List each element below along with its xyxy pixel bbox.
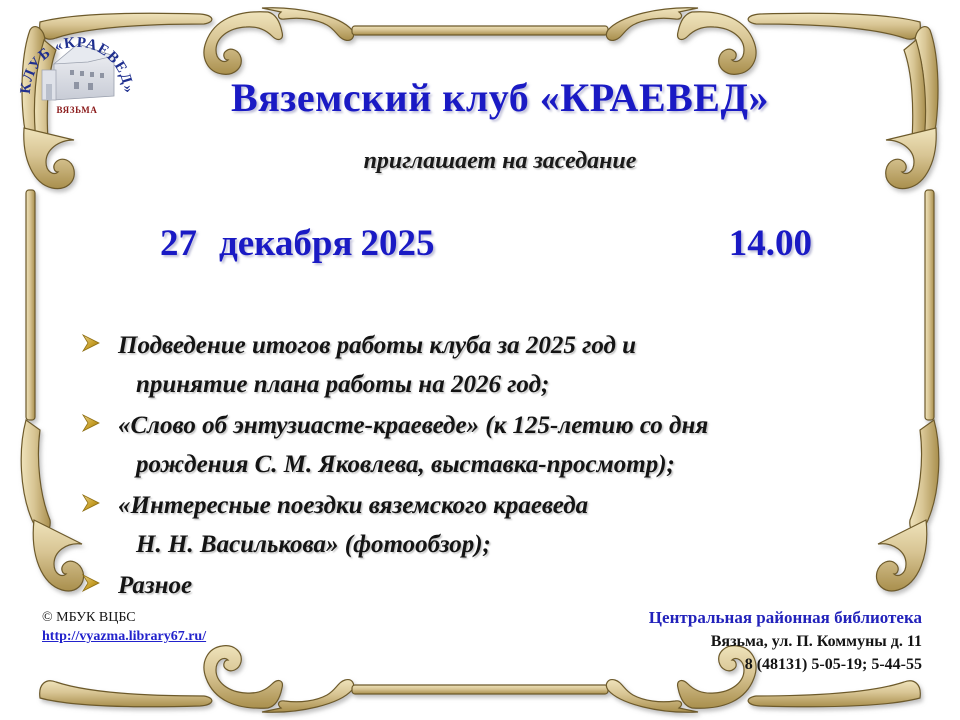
page-subtitle: приглашает на заседание	[150, 148, 850, 175]
event-day: 27	[160, 222, 197, 265]
arrow-bullet-icon	[78, 490, 104, 516]
agenda-line: рождения С. М. Яковлева, выставка-просмо…	[118, 445, 908, 484]
library-address: Вязьма, ул. П. Коммуны д. 11	[649, 630, 922, 653]
event-time: 14.00	[729, 222, 840, 265]
library-name: Центральная районная библиотека	[649, 606, 922, 630]
club-emblem-logo: КЛУБ «КРАЕВЕД» ВЯЗЬМА	[18, 18, 136, 126]
agenda-line: «Слово об энтузиасте-краеведе» (к 125-ле…	[118, 406, 908, 445]
agenda-list: Подведение итогов работы клуба за 2025 г…	[78, 326, 908, 607]
footer-left: © МБУК ВЦБС http://vyazma.library67.ru/	[42, 608, 206, 646]
library-phone: 8 (48131) 5-05-19; 5-44-55	[649, 653, 922, 676]
event-month: декабря	[219, 222, 353, 265]
agenda-line: «Интересные поездки вяземского краеведа	[118, 486, 908, 525]
agenda-line: Разное	[118, 566, 908, 605]
agenda-item: «Слово об энтузиасте-краеведе» (к 125-ле…	[78, 406, 908, 484]
event-datetime: 27 декабря 2025 14.00	[160, 222, 840, 265]
agenda-item: Разное	[78, 566, 908, 605]
agenda-line: Н. Н. Василькова» (фотообзор);	[118, 525, 908, 564]
agenda-item: Подведение итогов работы клуба за 2025 г…	[78, 326, 908, 404]
poster-canvas: КЛУБ «КРАЕВЕД» ВЯЗЬМА Вяземский клуб «КР…	[0, 0, 960, 720]
arrow-bullet-icon	[78, 570, 104, 596]
logo-city-text: ВЯЗЬМА	[57, 105, 98, 115]
agenda-line: Подведение итогов работы клуба за 2025 г…	[118, 326, 908, 365]
arrow-bullet-icon	[78, 330, 104, 356]
page-title: Вяземский клуб «КРАЕВЕД»	[150, 74, 850, 121]
agenda-item: «Интересные поездки вяземского краеведа …	[78, 486, 908, 564]
copyright-text: © МБУК ВЦБС	[42, 608, 206, 627]
footer-right: Центральная районная библиотека Вязьма, …	[649, 606, 922, 676]
arrow-bullet-icon	[78, 410, 104, 436]
library-website-link[interactable]: http://vyazma.library67.ru/	[42, 627, 206, 646]
agenda-line: принятие плана работы на 2026 год;	[118, 365, 908, 404]
event-year: 2025	[361, 222, 435, 265]
